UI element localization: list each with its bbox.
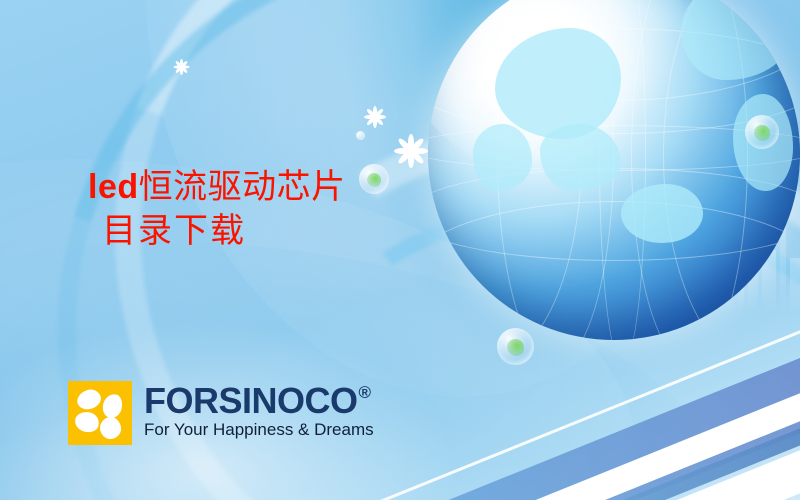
logo-text-block: FORSINOCO ® For Your Happiness & Dreams (144, 381, 374, 440)
company-logo[interactable]: FORSINOCO ® For Your Happiness & Dreams (68, 381, 374, 445)
headline-line-2: 目录下载 (102, 210, 346, 254)
headline-block: led恒流驱动芯片 目录下载 (88, 166, 346, 253)
brand-name-row: FORSINOCO ® (144, 383, 374, 419)
petal-icon-3 (73, 409, 102, 435)
poster-canvas: led恒流驱动芯片 目录下载 FORSINOCO ® For Your Happ… (0, 0, 800, 500)
headline-line-1: led恒流驱动芯片 (88, 166, 346, 210)
petal-icon-1 (75, 387, 104, 412)
brand-name: FORSINOCO (144, 383, 358, 419)
brand-tagline: For Your Happiness & Dreams (144, 421, 374, 440)
pinwheel-flower-icon (68, 381, 132, 445)
petal-icon-4 (98, 415, 124, 441)
registered-trademark-icon: ® (359, 384, 371, 401)
petal-icon-2 (100, 392, 124, 420)
headline-cjk-phrase: 恒流驱动芯片 (139, 169, 346, 206)
headline-latin-word: led (88, 168, 139, 206)
